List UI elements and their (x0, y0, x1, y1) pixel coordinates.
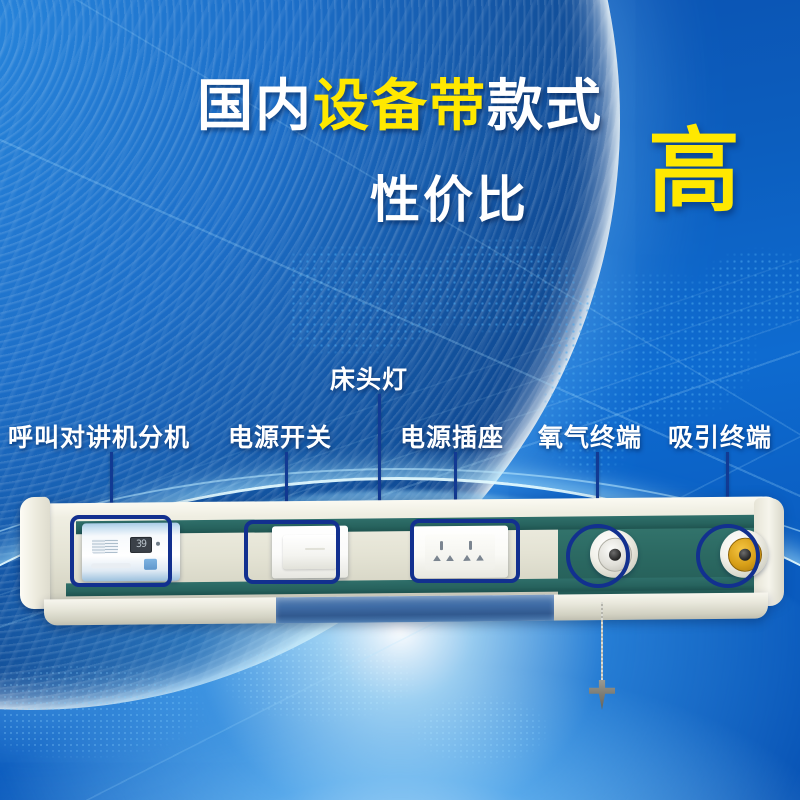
callout-label-power-switch: 电源开关 (228, 418, 332, 454)
headline-block: 国内设备带款式 性价比 高 (0, 78, 800, 248)
highlight-circle-oxygen (566, 524, 630, 588)
highlight-box-power-socket (410, 519, 520, 583)
promo-banner: 国内设备带款式 性价比 高 呼叫对讲机分机 电源开关 床头灯 电源插座 氧气终端… (0, 0, 800, 800)
headline-part-3: 款式 (487, 74, 603, 137)
callout-label-oxygen-outlet: 氧气终端 (538, 418, 642, 454)
headline-part-1: 国内 (197, 74, 313, 137)
unit-end-cap-left (20, 497, 50, 609)
highlight-box-intercom (70, 515, 172, 587)
callout-label-power-socket: 电源插座 (400, 418, 504, 454)
headline-highlight-char: 高 (648, 126, 740, 218)
highlight-circle-suction (696, 524, 760, 588)
headline-part-2-highlight: 设备带 (313, 74, 487, 137)
headline-subtext: 性价比 (370, 160, 529, 232)
pull-cord[interactable] (601, 602, 603, 690)
bedside-lamp-diffuser[interactable] (276, 595, 554, 624)
callout-label-suction-outlet: 吸引终端 (668, 418, 772, 454)
callout-label-bedside-lamp: 床头灯 (330, 360, 408, 396)
highlight-box-power-switch (244, 520, 340, 584)
callout-label-intercom: 呼叫对讲机分机 (8, 418, 190, 454)
headline-line-2: 性价比 高 (0, 156, 800, 248)
